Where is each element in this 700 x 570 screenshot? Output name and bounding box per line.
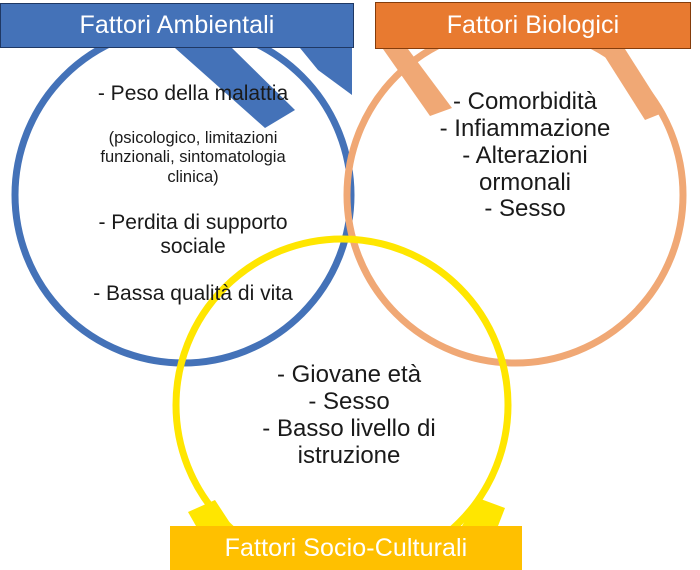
banner-sociocultural-label: Fattori Socio-Culturali — [225, 534, 468, 563]
sociocultural-lines: - Giovane età - Sesso - Basso livello di… — [218, 362, 480, 470]
environmental-line-4: - Bassa qualità di vita — [62, 282, 324, 306]
biological-lines: - Comorbidità - Infiammazione - Alterazi… — [400, 89, 650, 223]
content-biological: - Comorbidità - Infiammazione - Alterazi… — [400, 62, 650, 250]
banner-sociocultural: Fattori Socio-Culturali — [170, 526, 522, 570]
venn-diagram-canvas: Fattori Ambientali Fattori Biologici Fat… — [0, 0, 700, 570]
banner-environmental: Fattori Ambientali — [0, 3, 354, 48]
banner-biological-label: Fattori Biologici — [447, 11, 620, 40]
content-environmental: - Peso della malattia (psicologico, limi… — [62, 58, 324, 329]
banner-environmental-label: Fattori Ambientali — [80, 11, 275, 40]
environmental-line-2-detail: (psicologico, limitazioni funzionali, si… — [62, 129, 324, 188]
environmental-line-3: - Perdita di supporto sociale — [62, 211, 324, 258]
banner-biological: Fattori Biologici — [375, 2, 691, 49]
environmental-line-1: - Peso della malattia — [62, 82, 324, 106]
content-sociocultural: - Giovane età - Sesso - Basso livello di… — [218, 335, 480, 496]
